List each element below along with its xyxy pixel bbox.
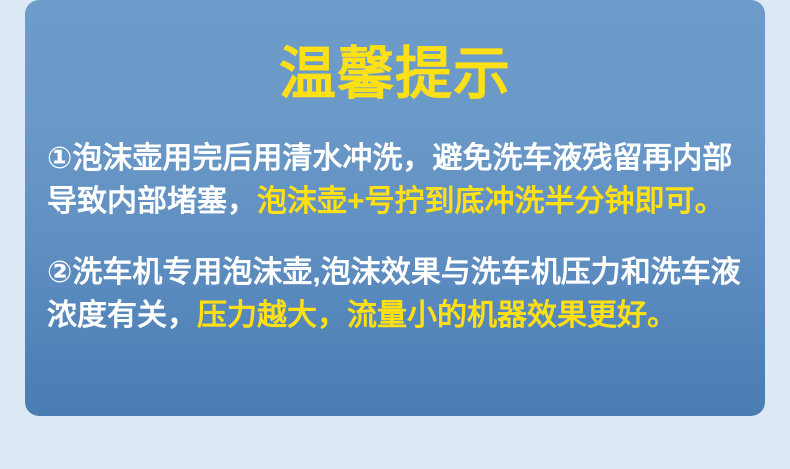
paragraph-2-highlight-text: 压力越大，流量小的机器效果更好。 xyxy=(197,299,677,332)
notice-paragraph-1: ①泡沫壶用完后用清水冲洗，避免洗车液残留再内部导致内部堵塞，泡沫壶+号拧到底冲洗… xyxy=(47,137,747,223)
notice-panel: 温馨提示 ①泡沫壶用完后用清水冲洗，避免洗车液残留再内部导致内部堵塞，泡沫壶+号… xyxy=(25,0,765,416)
notice-page: 温馨提示 ①泡沫壶用完后用清水冲洗，避免洗车液残留再内部导致内部堵塞，泡沫壶+号… xyxy=(0,0,790,469)
page-title: 温馨提示 xyxy=(25,44,765,106)
paragraph-1-marker: ① xyxy=(47,142,72,175)
paragraph-2-marker: ② xyxy=(47,256,72,289)
paragraph-1-highlight-text: 泡沫壶+号拧到底冲洗半分钟即可。 xyxy=(257,185,725,218)
notice-body: ①泡沫壶用完后用清水冲洗，避免洗车液残留再内部导致内部堵塞，泡沫壶+号拧到底冲洗… xyxy=(47,137,747,337)
notice-paragraph-2: ②洗车机专用泡沫壶,泡沫效果与洗车机压力和洗车液浓度有关，压力越大，流量小的机器… xyxy=(47,251,747,337)
